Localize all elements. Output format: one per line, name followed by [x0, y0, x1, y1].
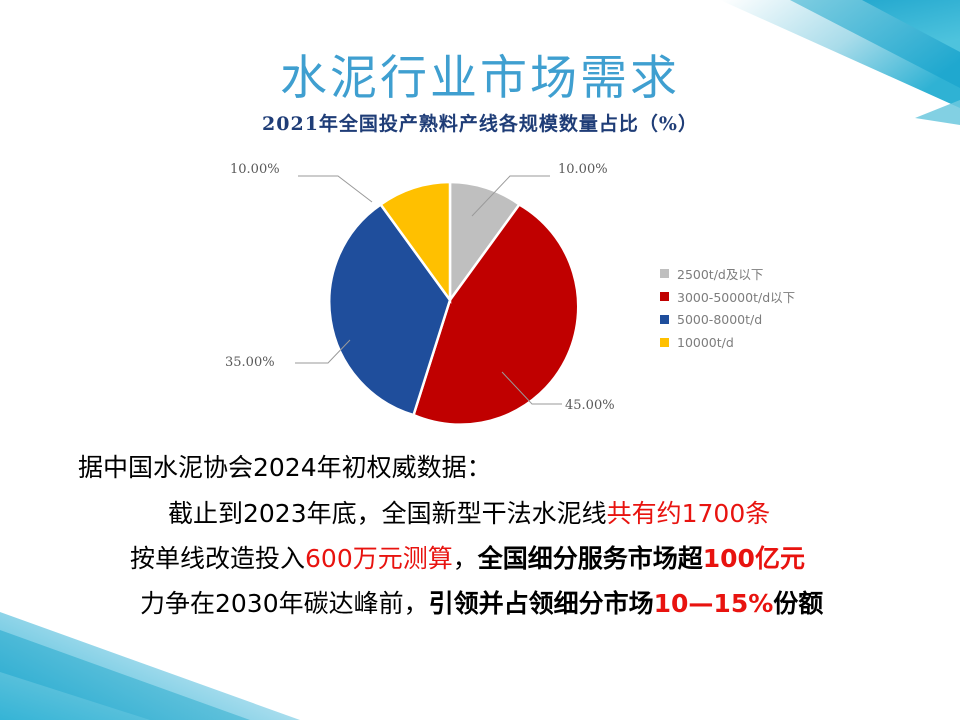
body-line-3-plain-a: 按单线改造投入 [130, 544, 305, 573]
pie-chart: 10.00% 10.00% 35.00% 45.00% 2500t/d及以下 3… [220, 150, 860, 450]
body-line-4-bold-a: 引领并占领细分市场 [429, 589, 654, 618]
body-line-3-highlight-a: 600万元测算 [305, 544, 453, 573]
legend-item-3000-50000td[interactable]: 3000-50000t/d以下 [660, 285, 795, 307]
pie-label-bottom-right: 45.00% [565, 398, 615, 413]
legend-item-5000-8000td[interactable]: 5000-8000t/d [660, 308, 795, 330]
legend-label: 2500t/d及以下 [677, 264, 763, 283]
body-line-3-highlight-b: 100亿元 [703, 544, 805, 573]
chart-subtitle: 2021年全国投产熟料产线各规模数量占比（%） [0, 109, 960, 136]
legend-swatch-yellow [660, 338, 669, 347]
title-block: 水泥行业市场需求 2021年全国投产熟料产线各规模数量占比（%） [0, 54, 960, 136]
body-line-2: 截止到2023年底，全国新型干法水泥线共有约1700条 [0, 501, 960, 526]
slide-root: 水泥行业市场需求 2021年全国投产熟料产线各规模数量占比（%） [0, 0, 960, 720]
chart-legend: 2500t/d及以下 3000-50000t/d以下 5000-8000t/d … [660, 262, 795, 354]
body-line-2-plain: 截止到2023年底，全国新型干法水泥线 [168, 499, 607, 528]
legend-label: 5000-8000t/d [677, 312, 762, 327]
body-line-3-comma: ， [453, 544, 478, 573]
pie-label-top-right: 10.00% [558, 162, 608, 177]
body-line-3-bold: 全国细分服务市场超 [478, 544, 703, 573]
body-line-4-plain: 力争在2030年碳达峰前， [140, 589, 429, 618]
legend-label: 3000-50000t/d以下 [677, 287, 795, 306]
body-line-3: 按单线改造投入600万元测算，全国细分服务市场超100亿元 [0, 546, 960, 571]
body-line-4: 力争在2030年碳达峰前，引领并占领细分市场10—15%份额 [0, 591, 960, 616]
body-line-2-highlight: 共有约1700条 [607, 499, 771, 528]
legend-swatch-red [660, 292, 669, 301]
legend-item-10000td[interactable]: 10000t/d [660, 331, 795, 353]
pie-label-top-left: 10.00% [230, 162, 280, 177]
legend-swatch-blue [660, 315, 669, 324]
body-line-4-highlight: 10—15% [654, 589, 774, 618]
body-line-1: 据中国水泥协会2024年初权威数据： [0, 455, 960, 480]
page-title: 水泥行业市场需求 [0, 54, 960, 105]
body-line-1-text: 据中国水泥协会2024年初权威数据： [78, 453, 492, 482]
legend-label: 10000t/d [677, 335, 734, 350]
legend-item-2500td[interactable]: 2500t/d及以下 [660, 262, 795, 284]
body-line-4-bold-b: 份额 [773, 589, 823, 618]
pie-label-bottom-left: 35.00% [225, 355, 275, 370]
decoration-bottom-left [0, 610, 300, 720]
legend-swatch-gray [660, 269, 669, 278]
body-text-block: 据中国水泥协会2024年初权威数据： 截止到2023年底，全国新型干法水泥线共有… [0, 455, 960, 616]
